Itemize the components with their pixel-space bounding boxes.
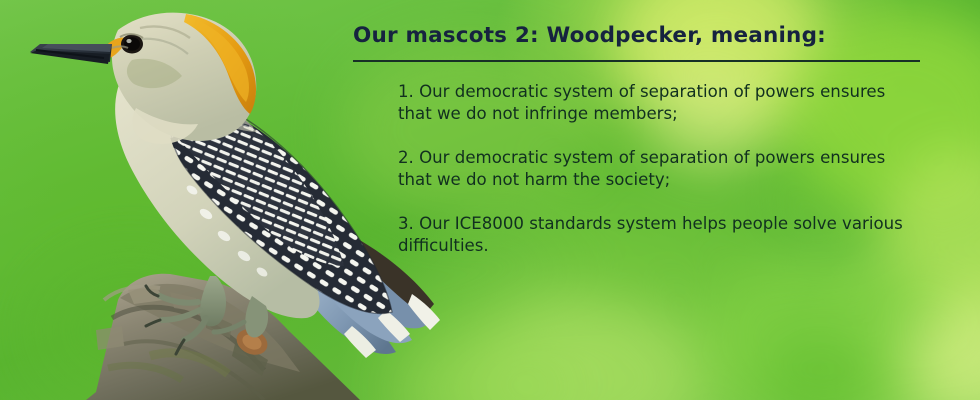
list-item: 3. Our ICE8000 standards system helps pe… [398, 213, 923, 257]
mascot-banner: Our mascots 2: Woodpecker, meaning: 1. O… [0, 0, 980, 400]
banner-title: Our mascots 2: Woodpecker, meaning: [353, 24, 923, 48]
title-divider [353, 60, 920, 62]
text-panel: Our mascots 2: Woodpecker, meaning: 1. O… [353, 24, 923, 257]
meaning-list: 1. Our democratic system of separation o… [353, 81, 923, 257]
bird-head [30, 13, 256, 144]
list-item: 2. Our democratic system of separation o… [398, 147, 923, 191]
list-item: 1. Our democratic system of separation o… [398, 81, 923, 125]
